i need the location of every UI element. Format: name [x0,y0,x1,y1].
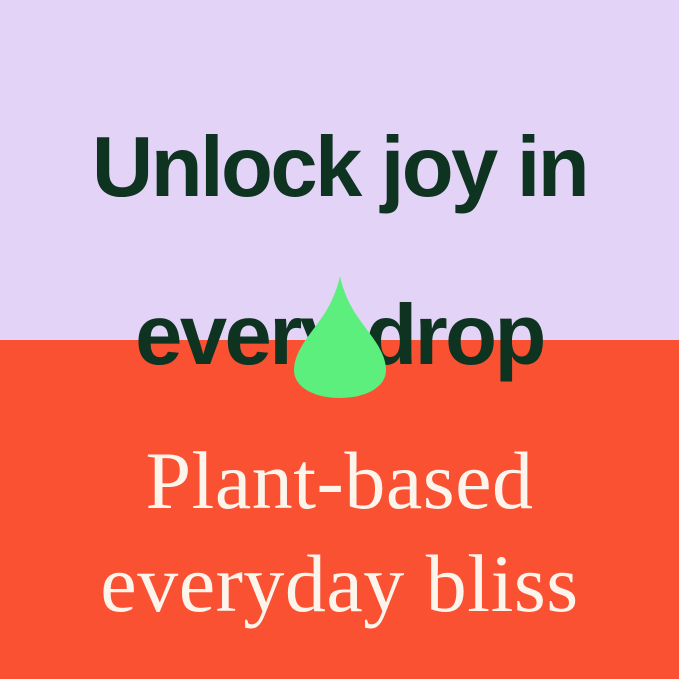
bottom-headline-line-1: Plant-based [0,430,679,533]
top-headline-line-1: Unlock joy in [0,126,679,210]
promo-poster: Unlock joy in every drop Plant-based eve… [0,0,679,679]
bottom-headline-line-2: everyday bliss [0,533,679,636]
droplet-shape [294,276,386,398]
bottom-headline: Plant-based everyday bliss [0,430,679,635]
water-droplet-icon [292,274,388,400]
